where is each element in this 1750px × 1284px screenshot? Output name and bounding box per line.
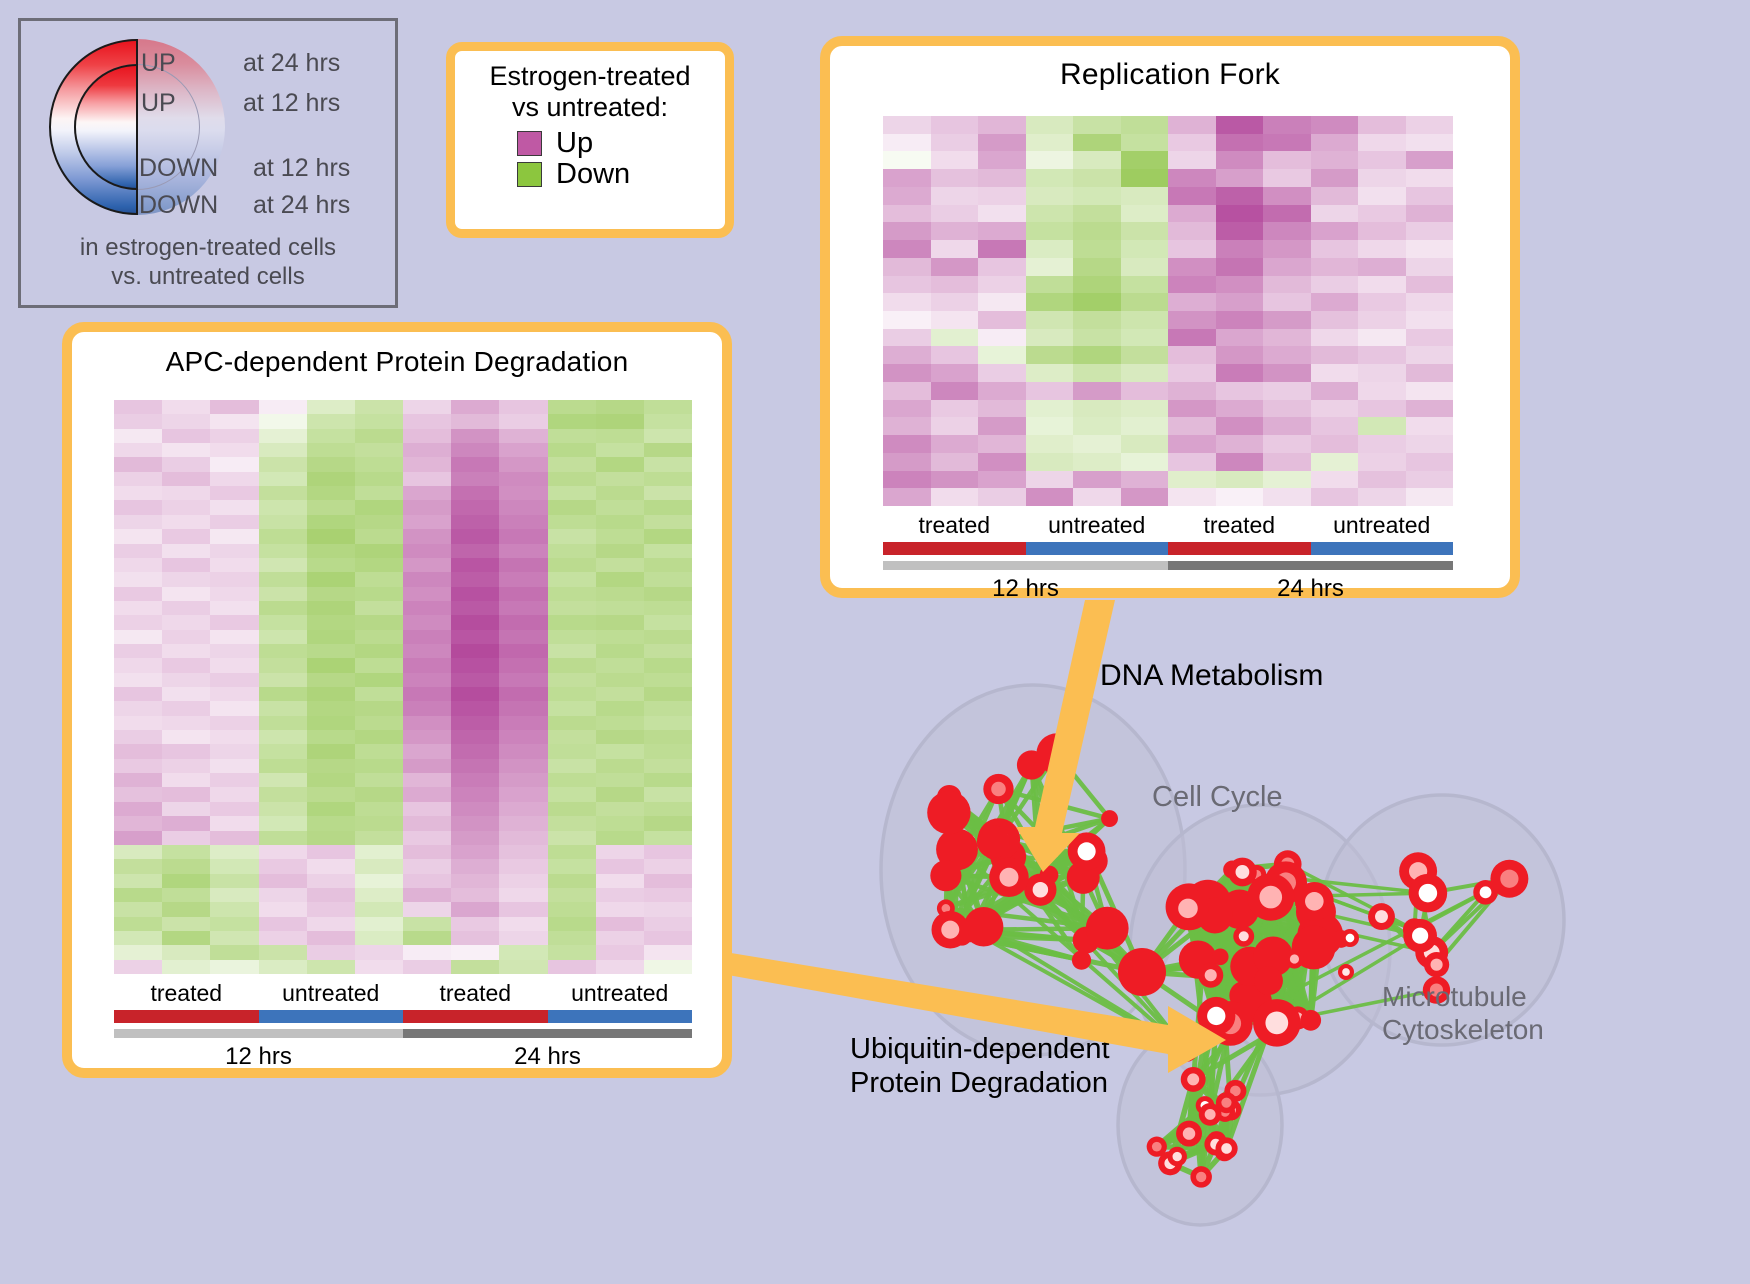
heatmap-cell (210, 874, 258, 888)
heatmap-cell (162, 888, 210, 902)
heatmap-cell (114, 960, 162, 974)
heatmap-cell (114, 472, 162, 486)
key-item-down: Down (517, 160, 725, 189)
heatmap-cell (403, 773, 451, 787)
heatmap-cell (259, 544, 307, 558)
network-node-core (1412, 928, 1428, 944)
heatmap-cell (931, 364, 979, 382)
heatmap-cell (596, 644, 644, 658)
network-node (1254, 966, 1283, 995)
heatmap-cell (451, 931, 499, 945)
heatmap-cell (1216, 276, 1264, 294)
heatmap-cell (1263, 329, 1311, 347)
heatmap-cell (499, 515, 547, 529)
heatmap-cell (978, 258, 1026, 276)
heatmap-cell (259, 759, 307, 773)
heatmap-cell (1358, 205, 1406, 223)
heatmap-cell (114, 572, 162, 586)
heatmap-cell (451, 673, 499, 687)
heatmap-cell (596, 802, 644, 816)
heatmap-cell (1121, 364, 1169, 382)
heatmap-cell (210, 615, 258, 629)
heatmap-cell (403, 500, 451, 514)
heatmap-cell (403, 544, 451, 558)
heatmap-cell (548, 902, 596, 916)
heatmap-cell (403, 759, 451, 773)
axis-replication-fork: treated untreated treated untreated 12 h… (883, 512, 1453, 603)
heatmap-cell (210, 701, 258, 715)
heatmap-cell (307, 802, 355, 816)
heatmap-cell (1358, 293, 1406, 311)
heatmap-cell (210, 816, 258, 830)
heatmap-cell (162, 558, 210, 572)
heatmap-cell (548, 558, 596, 572)
heatmap-cell (931, 187, 979, 205)
heatmap-cell (1358, 276, 1406, 294)
axis-group-colorbar-rep (883, 542, 1453, 555)
heatmap-cell (259, 443, 307, 457)
heatmap-cell (1121, 205, 1169, 223)
bar-untreated-24 (548, 1010, 693, 1023)
heatmap-cell (931, 116, 979, 134)
heatmap-cell (1073, 151, 1121, 169)
heatmap-cell (644, 429, 692, 443)
heatmap-cell (548, 529, 596, 543)
heatmap-cell (210, 544, 258, 558)
heatmap-cell (451, 902, 499, 916)
network-node-core (1221, 1143, 1232, 1154)
heatmap-cell (644, 558, 692, 572)
heatmap-cell (451, 630, 499, 644)
bar-untreated-24 (1311, 542, 1454, 555)
heatmap-cell (1026, 276, 1074, 294)
network-node-core (1375, 910, 1388, 923)
cluster-label-microtubule-cytoskeleton: Microtubule Cytoskeleton (1382, 980, 1544, 1046)
heatmap-cell (307, 558, 355, 572)
heatmap-cell (978, 488, 1026, 506)
bar-treated-12 (114, 1010, 259, 1023)
heatmap-cell (210, 558, 258, 572)
heatmap-cell (596, 730, 644, 744)
heatmap-cell (114, 414, 162, 428)
heatmap-cell (259, 644, 307, 658)
heatmap-cell (978, 311, 1026, 329)
heatmap-cell (931, 311, 979, 329)
heatmap-cell (1073, 346, 1121, 364)
heatmap-cell (596, 874, 644, 888)
heatmap-cell (210, 429, 258, 443)
heatmap-cell (548, 744, 596, 758)
heatmap-cell (451, 615, 499, 629)
network-node (1072, 951, 1091, 970)
heatmap-cell (259, 701, 307, 715)
heatmap-cell (1121, 453, 1169, 471)
heatmap-cell (1358, 364, 1406, 382)
heatmap-cell (1311, 329, 1359, 347)
heatmap-cell (883, 151, 931, 169)
heatmap-cell (307, 457, 355, 471)
heatmap-cell (883, 400, 931, 418)
heatmap-cell (1406, 435, 1454, 453)
axis-label-treated-24: treated (1168, 512, 1311, 539)
heatmap-cell (1406, 329, 1454, 347)
heatmap-cell (114, 787, 162, 801)
heatmap-cell (451, 457, 499, 471)
heatmap-cell (644, 744, 692, 758)
heatmap-cell (1406, 311, 1454, 329)
heatmap-cell (451, 572, 499, 586)
heatmap-replication-fork (883, 116, 1453, 506)
heatmap-cell (403, 457, 451, 471)
heatmap-cell (596, 400, 644, 414)
heatmap-cell (644, 601, 692, 615)
heatmap-cell (355, 615, 403, 629)
heatmap-cell (1263, 453, 1311, 471)
heatmap-cell (355, 945, 403, 959)
heatmap-cell (1216, 453, 1264, 471)
updown-legend-box: UP at 24 hrs UP at 12 hrs DOWN at 12 hrs… (18, 18, 398, 308)
heatmap-cell (499, 687, 547, 701)
heatmap-cell (644, 529, 692, 543)
heatmap-cell (1216, 258, 1264, 276)
heatmap-cell (307, 816, 355, 830)
heatmap-cell (114, 544, 162, 558)
heatmap-cell (499, 845, 547, 859)
heatmap-cell (162, 730, 210, 744)
heatmap-cell (499, 558, 547, 572)
legend-time-down-12: at 12 hrs (253, 154, 350, 183)
key-items: Up Down (455, 129, 725, 189)
heatmap-cell (1311, 453, 1359, 471)
heatmap-cell (1026, 435, 1074, 453)
heatmap-cell (451, 716, 499, 730)
heatmap-cell (307, 716, 355, 730)
heatmap-cell (114, 874, 162, 888)
heatmap-cell (1358, 240, 1406, 258)
heatmap-cell (162, 515, 210, 529)
heatmap-cell (499, 544, 547, 558)
heatmap-cell (259, 902, 307, 916)
axis-label-treated-12: treated (883, 512, 1026, 539)
heatmap-cell (1168, 417, 1216, 435)
network-node-core (1500, 870, 1518, 888)
heatmap-cell (499, 673, 547, 687)
heatmap-cell (1073, 400, 1121, 418)
heatmap-cell (1073, 488, 1121, 506)
heatmap-cell (499, 630, 547, 644)
heatmap-cell (644, 831, 692, 845)
heatmap-cell (355, 773, 403, 787)
heatmap-cell (548, 572, 596, 586)
heatmap-cell (1073, 205, 1121, 223)
heatmap-cell (931, 134, 979, 152)
heatmap-cell (548, 687, 596, 701)
heatmap-cell (114, 802, 162, 816)
heatmap-cell (210, 500, 258, 514)
heatmap-cell (451, 888, 499, 902)
key-title-line-1: Estrogen-treated (455, 51, 725, 92)
heatmap-cell (403, 902, 451, 916)
heatmap-cell (978, 222, 1026, 240)
heatmap-cell (307, 429, 355, 443)
heatmap-cell (548, 673, 596, 687)
heatmap-cell (210, 587, 258, 601)
heatmap-cell (644, 931, 692, 945)
heatmap-cell (1026, 364, 1074, 382)
heatmap-cell (1263, 205, 1311, 223)
heatmap-cell (307, 730, 355, 744)
heatmap-cell (451, 744, 499, 758)
heatmap-cell (1406, 417, 1454, 435)
heatmap-cell (644, 759, 692, 773)
heatmap-cell (259, 615, 307, 629)
heatmap-cell (355, 744, 403, 758)
heatmap-cell (1121, 169, 1169, 187)
heatmap-cell (596, 587, 644, 601)
heatmap-cell (259, 945, 307, 959)
heatmap-cell (307, 787, 355, 801)
heatmap-cell (259, 802, 307, 816)
heatmap-cell (355, 558, 403, 572)
heatmap-cell (1073, 169, 1121, 187)
heatmap-cell (162, 630, 210, 644)
heatmap-cell (355, 529, 403, 543)
heatmap-cell (548, 931, 596, 945)
heatmap-cell (499, 787, 547, 801)
heatmap-cell (548, 630, 596, 644)
heatmap-cell (1168, 346, 1216, 364)
heatmap-cell (307, 759, 355, 773)
bar-treated-24 (403, 1010, 548, 1023)
heatmap-cell (451, 845, 499, 859)
heatmap-cell (499, 658, 547, 672)
heatmap-cell (403, 615, 451, 629)
heatmap-cell (1263, 276, 1311, 294)
heatmap-cell (1168, 222, 1216, 240)
heatmap-cell (499, 730, 547, 744)
heatmap-cell (355, 759, 403, 773)
heatmap-cell (355, 429, 403, 443)
heatmap-cell (307, 472, 355, 486)
heatmap-cell (162, 802, 210, 816)
heatmap-cell (596, 859, 644, 873)
heatmap-cell (451, 414, 499, 428)
heatmap-cell (162, 486, 210, 500)
heatmap-cell (548, 400, 596, 414)
heatmap-cell (403, 515, 451, 529)
heatmap-cell (931, 435, 979, 453)
heatmap-cell (1311, 471, 1359, 489)
network-node-core (1239, 931, 1249, 941)
heatmap-cell (596, 701, 644, 715)
heatmap-cell (1073, 329, 1121, 347)
heatmap-cell (499, 945, 547, 959)
heatmap-cell (162, 917, 210, 931)
heatmap-cell (1168, 187, 1216, 205)
heatmap-cell (1263, 417, 1311, 435)
heatmap-cell (162, 845, 210, 859)
heatmap-cell (114, 845, 162, 859)
heatmap-cell (1406, 240, 1454, 258)
heatmap-cell (499, 472, 547, 486)
heatmap-cell (451, 558, 499, 572)
heatmap-cell (548, 816, 596, 830)
panel-title-apc: APC-dependent Protein Degradation (72, 332, 722, 378)
heatmap-cell (499, 572, 547, 586)
heatmap-cell (355, 457, 403, 471)
heatmap-cell (596, 673, 644, 687)
heatmap-cell (978, 134, 1026, 152)
heatmap-cell (355, 931, 403, 945)
heatmap-cell (1216, 435, 1264, 453)
heatmap-cell (307, 443, 355, 457)
heatmap-cell (1121, 293, 1169, 311)
heatmap-cell (355, 443, 403, 457)
heatmap-cell (1358, 417, 1406, 435)
heatmap-cell (114, 917, 162, 931)
heatmap-cell (403, 529, 451, 543)
heatmap-cell (1026, 488, 1074, 506)
circle-divider (136, 39, 138, 215)
axis-label-untreated-24: untreated (548, 980, 693, 1007)
heatmap-cell (1168, 488, 1216, 506)
heatmap-cell (1406, 471, 1454, 489)
heatmap-cell (162, 500, 210, 514)
heatmap-cell (978, 187, 1026, 205)
heatmap-cell (403, 429, 451, 443)
heatmap-cell (499, 414, 547, 428)
heatmap-cell (451, 773, 499, 787)
heatmap-cell (548, 414, 596, 428)
heatmap-cell (1073, 134, 1121, 152)
heatmap-cell (1406, 453, 1454, 471)
heatmap-cell (596, 615, 644, 629)
heatmap-cell (499, 457, 547, 471)
heatmap-cell (307, 687, 355, 701)
heatmap-cell (1121, 134, 1169, 152)
network-node-core (1259, 886, 1282, 909)
heatmap-cell (259, 874, 307, 888)
heatmap-cell (210, 787, 258, 801)
heatmap-cell (548, 701, 596, 715)
heatmap-cell (1311, 116, 1359, 134)
heatmap-cell (114, 558, 162, 572)
heatmap-cell (307, 859, 355, 873)
heatmap-cell (596, 716, 644, 730)
heatmap-cell (1311, 205, 1359, 223)
heatmap-cell (403, 716, 451, 730)
heatmap-cell (451, 831, 499, 845)
heatmap-cell (1406, 364, 1454, 382)
heatmap-cell (355, 701, 403, 715)
heatmap-cell (548, 486, 596, 500)
heatmap-cell (883, 293, 931, 311)
heatmap-cell (978, 364, 1026, 382)
heatmap-cell (1263, 116, 1311, 134)
heatmap-cell (1026, 187, 1074, 205)
heatmap-cell (978, 400, 1026, 418)
heatmap-cell (596, 816, 644, 830)
heatmap-cell (548, 658, 596, 672)
heatmap-cell (644, 888, 692, 902)
heatmap-cell (548, 859, 596, 873)
heatmap-cell (162, 544, 210, 558)
heatmap-cell (499, 500, 547, 514)
heatmap-cell (114, 816, 162, 830)
heatmap-cell (451, 787, 499, 801)
heatmap-cell (596, 658, 644, 672)
heatmap-cell (1073, 258, 1121, 276)
axis-time-labels-apc: 12 hrs 24 hrs (114, 1043, 692, 1071)
heatmap-cell (210, 630, 258, 644)
heatmap-cell (1311, 240, 1359, 258)
heatmap-cell (355, 472, 403, 486)
legend-time-up-24: at 24 hrs (243, 49, 340, 78)
heatmap-cell (1216, 134, 1264, 152)
heatmap-cell (548, 888, 596, 902)
heatmap-cell (162, 759, 210, 773)
heatmap-cell (210, 515, 258, 529)
heatmap-cell (210, 802, 258, 816)
heatmap-apc-degradation (114, 400, 692, 974)
network-node-core (1152, 1142, 1162, 1152)
heatmap-cell (548, 874, 596, 888)
heatmap-cell (355, 888, 403, 902)
heatmap-cell (114, 529, 162, 543)
heatmap-cell (644, 572, 692, 586)
heatmap-cell (1216, 364, 1264, 382)
heatmap-cell (644, 845, 692, 859)
heatmap-cell (451, 587, 499, 601)
heatmap-cell (883, 276, 931, 294)
heatmap-cell (210, 400, 258, 414)
key-item-up: Up (517, 129, 725, 158)
heatmap-cell (644, 486, 692, 500)
heatmap-cell (1216, 293, 1264, 311)
heatmap-cell (883, 116, 931, 134)
heatmap-cell (162, 716, 210, 730)
heatmap-cell (162, 931, 210, 945)
heatmap-cell (978, 435, 1026, 453)
heatmap-cell (1358, 151, 1406, 169)
heatmap-cell (1026, 329, 1074, 347)
heatmap-cell (1121, 187, 1169, 205)
heatmap-cell (1168, 382, 1216, 400)
network-node-core (1078, 842, 1096, 860)
heatmap-cell (355, 500, 403, 514)
heatmap-cell (451, 515, 499, 529)
heatmap-cell (931, 417, 979, 435)
heatmap-cell (548, 587, 596, 601)
network-node-core (1221, 1098, 1231, 1108)
heatmap-cell (355, 716, 403, 730)
heatmap-cell (644, 716, 692, 730)
bar-time-12 (883, 561, 1168, 570)
heatmap-cell (596, 500, 644, 514)
network-node-core (1305, 892, 1324, 911)
legend-row-up-12: UP (141, 89, 176, 118)
heatmap-cell (596, 443, 644, 457)
heatmap-cell (114, 773, 162, 787)
heatmap-cell (259, 472, 307, 486)
heatmap-cell (883, 134, 931, 152)
heatmap-cell (210, 845, 258, 859)
network-node-core (1196, 1172, 1206, 1182)
heatmap-cell (1026, 293, 1074, 311)
heatmap-cell (259, 673, 307, 687)
heatmap-cell (1121, 488, 1169, 506)
heatmap-cell (1168, 205, 1216, 223)
